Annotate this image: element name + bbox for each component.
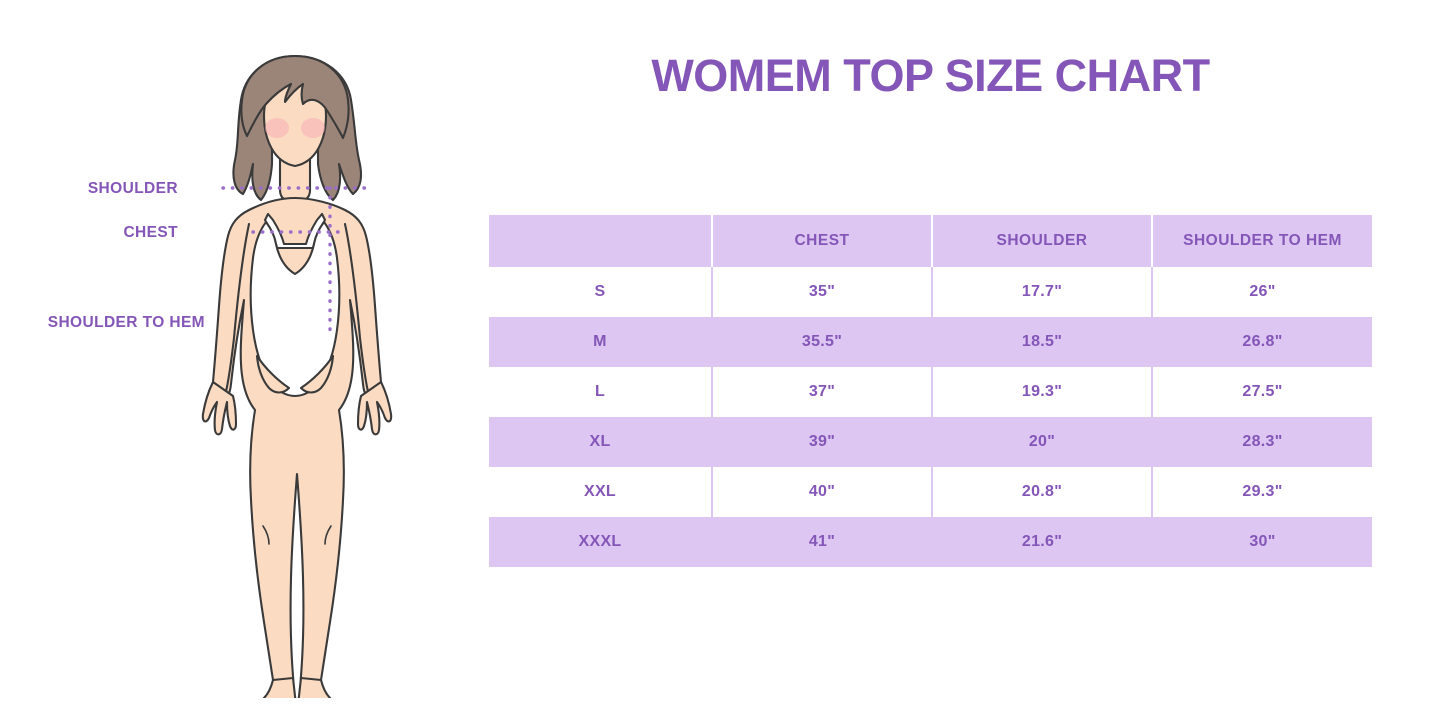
blush-right bbox=[301, 118, 325, 138]
cell-shoulder-to-hem: 28.3" bbox=[1152, 417, 1372, 467]
cell-shoulder-to-hem: 26.8" bbox=[1152, 317, 1372, 367]
cell-chest: 40" bbox=[712, 467, 932, 517]
table-row: L 37" 19.3" 27.5" bbox=[489, 367, 1372, 417]
cell-shoulder-to-hem: 30" bbox=[1152, 517, 1372, 567]
cell-shoulder-to-hem: 27.5" bbox=[1152, 367, 1372, 417]
size-chart-table: CHEST SHOULDER SHOULDER TO HEM S 35" 17.… bbox=[489, 215, 1372, 567]
cell-chest: 41" bbox=[712, 517, 932, 567]
table-header: CHEST SHOULDER SHOULDER TO HEM bbox=[489, 215, 1372, 267]
body-figure-illustration bbox=[165, 38, 425, 698]
body-figure-svg bbox=[165, 38, 425, 698]
foot-right bbox=[299, 678, 332, 698]
table-row: XXL 40" 20.8" 29.3" bbox=[489, 467, 1372, 517]
cell-size: XL bbox=[489, 417, 712, 467]
table-row: XXXL 41" 21.6" 30" bbox=[489, 517, 1372, 567]
cell-shoulder: 17.7" bbox=[932, 267, 1152, 317]
cell-chest: 35.5" bbox=[712, 317, 932, 367]
measurement-label-chest: CHEST bbox=[0, 224, 178, 242]
cell-shoulder: 18.5" bbox=[932, 317, 1152, 367]
cell-size: XXL bbox=[489, 467, 712, 517]
column-header-size bbox=[489, 215, 712, 267]
cell-size: XXXL bbox=[489, 517, 712, 567]
cell-shoulder: 19.3" bbox=[932, 367, 1152, 417]
cell-chest: 37" bbox=[712, 367, 932, 417]
cell-shoulder-to-hem: 26" bbox=[1152, 267, 1372, 317]
cell-shoulder: 21.6" bbox=[932, 517, 1152, 567]
cell-size: M bbox=[489, 317, 712, 367]
foot-left bbox=[263, 678, 296, 698]
cell-size: L bbox=[489, 367, 712, 417]
cell-shoulder: 20.8" bbox=[932, 467, 1152, 517]
cell-size: S bbox=[489, 267, 712, 317]
blush-left bbox=[265, 118, 289, 138]
table-row: M 35.5" 18.5" 26.8" bbox=[489, 317, 1372, 367]
cell-shoulder-to-hem: 29.3" bbox=[1152, 467, 1372, 517]
size-chart-page: WOMEM TOP SIZE CHART SHOULDER CHEST SHOU… bbox=[0, 0, 1445, 723]
column-header-chest: CHEST bbox=[712, 215, 932, 267]
table-header-row: CHEST SHOULDER SHOULDER TO HEM bbox=[489, 215, 1372, 267]
table-row: XL 39" 20" 28.3" bbox=[489, 417, 1372, 467]
page-title: WOMEM TOP SIZE CHART bbox=[489, 52, 1372, 99]
column-header-shoulder: SHOULDER bbox=[932, 215, 1152, 267]
table-row: S 35" 17.7" 26" bbox=[489, 267, 1372, 317]
cell-shoulder: 20" bbox=[932, 417, 1152, 467]
cell-chest: 39" bbox=[712, 417, 932, 467]
table-body: S 35" 17.7" 26" M 35.5" 18.5" 26.8" L 37… bbox=[489, 267, 1372, 567]
cell-chest: 35" bbox=[712, 267, 932, 317]
column-header-shoulder-to-hem: SHOULDER TO HEM bbox=[1152, 215, 1372, 267]
measurement-label-shoulder: SHOULDER bbox=[0, 180, 178, 198]
